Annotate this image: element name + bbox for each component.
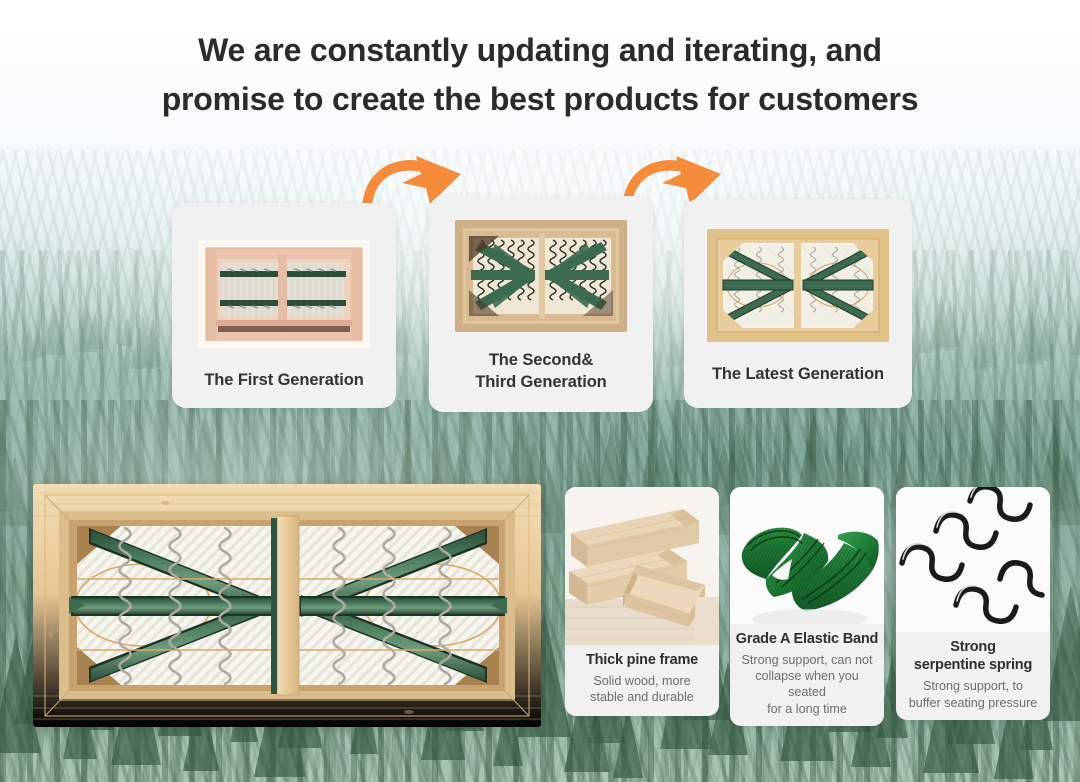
caption-line: The First Generation: [204, 371, 363, 389]
feature-subtitle-line: buffer seating pressure: [901, 695, 1045, 711]
page-title: We are constantly updating and iterating…: [0, 26, 1080, 123]
feature-photo-serpentine-spring: [896, 487, 1050, 632]
feature-title: Thick pine frame: [570, 652, 714, 670]
feature-subtitle-line: stable and durable: [570, 689, 714, 705]
generation-card-second-third[interactable]: The Second& Third Generation: [429, 196, 653, 412]
feature-title: Grade A Elastic Band: [735, 631, 879, 649]
page-title-line-1: We are constantly updating and iterating…: [198, 32, 882, 68]
feature-card-elastic-band[interactable]: Grade A Elastic Band Strong support, can…: [730, 487, 884, 726]
feature-subtitle-line: Strong support, to: [901, 678, 1045, 694]
feature-subtitle-line: Solid wood, more: [570, 673, 714, 689]
feature-title: serpentine spring: [901, 657, 1045, 675]
generation-thumbnail-second-third: [455, 220, 627, 332]
generation-caption-first: The First Generation: [204, 370, 363, 392]
feature-text-elastic-band: Grade A Elastic Band Strong support, can…: [730, 624, 884, 726]
caption-line: The Second&: [489, 351, 593, 369]
generation-caption-latest: The Latest Generation: [712, 364, 884, 386]
feature-card-pine-frame[interactable]: Thick pine frame Solid wood, more stable…: [565, 487, 719, 716]
generation-thumbnail-first: [198, 240, 370, 348]
feature-text-serpentine-spring: Strong serpentine spring Strong support,…: [896, 632, 1050, 720]
feature-subtitle-line: collapse when you seated: [735, 668, 879, 701]
generation-caption-second-third: The Second& Third Generation: [475, 350, 606, 394]
sofa-frame-illustration: [33, 484, 541, 727]
feature-card-serpentine-spring[interactable]: Strong serpentine spring Strong support,…: [896, 487, 1050, 720]
caption-line: The Latest Generation: [712, 365, 884, 383]
generation-thumbnail-latest: [707, 229, 889, 342]
feature-title: Strong: [901, 639, 1045, 657]
feature-text-pine-frame: Thick pine frame Solid wood, more stable…: [565, 645, 719, 715]
feature-photo-elastic-band: [730, 487, 884, 624]
generation-card-latest[interactable]: The Latest Generation: [684, 199, 912, 408]
feature-photo-pine-frame: [565, 487, 719, 645]
hero-product-image: [33, 484, 541, 727]
generation-card-first[interactable]: The First Generation: [172, 203, 396, 408]
feature-subtitle-line: Strong support, can not: [735, 652, 879, 668]
feature-subtitle-line: for a long time: [735, 701, 879, 717]
caption-line: Third Generation: [475, 373, 606, 391]
page-title-line-2: promise to create the best products for …: [0, 75, 1080, 124]
